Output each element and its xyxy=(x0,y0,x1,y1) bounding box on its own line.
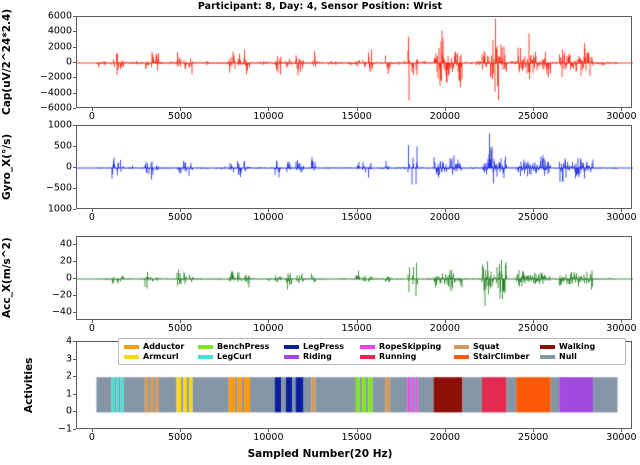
x-tick-capacitance: 10000 xyxy=(253,111,283,122)
y-tick-capacitance: −6000 xyxy=(30,103,72,114)
x-tick-mark xyxy=(92,320,93,323)
legend-swatch-icon xyxy=(360,345,375,349)
legend-label: Walking xyxy=(559,342,595,351)
y-tick-capacitance: 4000 xyxy=(30,26,72,37)
legend-label: LegPress xyxy=(303,342,344,351)
x-tick-activities: 30000 xyxy=(606,432,636,443)
y-tick-mark xyxy=(73,209,76,210)
subplot-accelerometer-x xyxy=(76,236,632,320)
x-tick-accelerometer-x: 30000 xyxy=(606,323,636,334)
y-tick-gyroscope-x: 1000 xyxy=(30,120,72,131)
y-tick-activities: 3 xyxy=(30,353,72,364)
x-tick-mark xyxy=(445,429,446,432)
legend-label: RopeSkipping xyxy=(379,342,441,351)
y-tick-mark xyxy=(73,188,76,189)
x-tick-accelerometer-x: 0 xyxy=(89,323,95,334)
x-tick-capacitance: 20000 xyxy=(430,111,460,122)
plot-area-gyroscope-x xyxy=(77,126,633,210)
subplot-gyroscope-x xyxy=(76,125,632,209)
legend-item-squat[interactable]: Squat xyxy=(454,342,540,351)
y-tick-capacitance: 0 xyxy=(30,57,72,68)
y-tick-mark xyxy=(73,47,76,48)
x-tick-gyroscope-x: 20000 xyxy=(430,212,460,223)
y-tick-activities: 2 xyxy=(30,371,72,382)
x-tick-mark xyxy=(268,320,269,323)
legend-item-running[interactable]: Running xyxy=(360,352,454,361)
x-tick-capacitance: 5000 xyxy=(168,111,192,122)
x-tick-mark xyxy=(180,320,181,323)
x-tick-activities: 5000 xyxy=(168,432,192,443)
y-tick-accelerometer-x: 0 xyxy=(30,273,72,284)
y-tick-mark xyxy=(73,261,76,262)
legend-swatch-icon xyxy=(284,355,299,359)
legend-label: Squat xyxy=(473,342,499,351)
x-tick-capacitance: 15000 xyxy=(342,111,372,122)
activity-legend: AdductorBenchPressLegPressRopeSkippingSq… xyxy=(118,338,626,365)
y-tick-accelerometer-x: −40 xyxy=(30,306,72,317)
x-tick-capacitance: 30000 xyxy=(606,111,636,122)
y-tick-gyroscope-x: 0 xyxy=(30,162,72,173)
x-tick-activities: 15000 xyxy=(342,432,372,443)
x-axis-label: Sampled Number(20 Hz) xyxy=(0,448,640,460)
legend-swatch-icon xyxy=(198,355,213,359)
legend-label: Adductor xyxy=(143,342,184,351)
x-tick-gyroscope-x: 10000 xyxy=(253,212,283,223)
y-tick-activities: 4 xyxy=(30,336,72,347)
x-tick-mark xyxy=(268,209,269,212)
y-tick-accelerometer-x: −20 xyxy=(30,289,72,300)
x-tick-mark xyxy=(621,209,622,212)
x-tick-activities: 20000 xyxy=(430,432,460,443)
x-tick-mark xyxy=(357,320,358,323)
x-tick-capacitance: 25000 xyxy=(518,111,548,122)
y-tick-activities: −1 xyxy=(30,424,72,435)
x-tick-accelerometer-x: 15000 xyxy=(342,323,372,334)
y-tick-mark xyxy=(73,167,76,168)
legend-swatch-icon xyxy=(540,355,555,359)
y-tick-mark xyxy=(73,93,76,94)
y-tick-capacitance: 2000 xyxy=(30,41,72,52)
y-tick-mark xyxy=(73,31,76,32)
figure-title: Participant: 8, Day: 4, Sensor Position:… xyxy=(0,1,640,12)
plot-area-capacitance xyxy=(77,17,633,109)
x-tick-mark xyxy=(357,209,358,212)
y-tick-capacitance: −2000 xyxy=(30,72,72,83)
figure-canvas: Participant: 8, Day: 4, Sensor Position:… xyxy=(0,0,640,465)
legend-swatch-icon xyxy=(454,345,469,349)
x-tick-gyroscope-x: 5000 xyxy=(168,212,192,223)
y-tick-mark xyxy=(73,125,76,126)
y-axis-label-gyroscope-x: Gyro_X(°/s) xyxy=(0,125,14,209)
legend-swatch-icon xyxy=(124,345,139,349)
y-tick-mark xyxy=(73,341,76,342)
y-tick-gyroscope-x: 1000 xyxy=(30,204,72,215)
legend-label: Armcurl xyxy=(143,352,179,361)
legend-item-riding[interactable]: Riding xyxy=(284,352,360,361)
x-tick-activities: 10000 xyxy=(253,432,283,443)
x-tick-gyroscope-x: 25000 xyxy=(518,212,548,223)
legend-item-null[interactable]: Null xyxy=(540,352,612,361)
x-tick-mark xyxy=(621,429,622,432)
x-tick-mark xyxy=(180,209,181,212)
y-axis-label-accelerometer-x: Acc_X(m/s^2) xyxy=(0,236,14,320)
x-tick-mark xyxy=(180,429,181,432)
y-tick-mark xyxy=(73,16,76,17)
x-tick-mark xyxy=(533,320,534,323)
legend-row: ArmcurlLegCurlRidingRunningStairClimberN… xyxy=(124,352,620,361)
y-tick-mark xyxy=(73,411,76,412)
x-tick-gyroscope-x: 0 xyxy=(89,212,95,223)
y-tick-gyroscope-x: 500 xyxy=(30,141,72,152)
x-tick-mark xyxy=(180,108,181,111)
x-tick-accelerometer-x: 25000 xyxy=(518,323,548,334)
legend-swatch-icon xyxy=(360,355,375,359)
legend-swatch-icon xyxy=(284,345,299,349)
y-tick-activities: 1 xyxy=(30,388,72,399)
legend-item-walking[interactable]: Walking xyxy=(540,342,612,351)
legend-item-stairclimber[interactable]: StairClimber xyxy=(454,352,540,361)
legend-swatch-icon xyxy=(540,345,555,349)
legend-item-benchpress[interactable]: BenchPress xyxy=(198,342,284,351)
x-tick-accelerometer-x: 10000 xyxy=(253,323,283,334)
legend-item-legcurl[interactable]: LegCurl xyxy=(198,352,284,361)
x-tick-gyroscope-x: 30000 xyxy=(606,212,636,223)
x-tick-accelerometer-x: 5000 xyxy=(168,323,192,334)
legend-label: LegCurl xyxy=(217,352,252,361)
x-tick-capacitance: 0 xyxy=(89,111,95,122)
y-tick-mark xyxy=(73,146,76,147)
x-tick-mark xyxy=(533,108,534,111)
legend-item-adductor[interactable]: Adductor xyxy=(124,342,198,351)
x-tick-gyroscope-x: 15000 xyxy=(342,212,372,223)
x-tick-mark xyxy=(357,429,358,432)
y-tick-mark xyxy=(73,376,76,377)
y-tick-mark xyxy=(73,295,76,296)
legend-item-ropeskipping[interactable]: RopeSkipping xyxy=(360,342,454,351)
y-tick-capacitance: 6000 xyxy=(30,11,72,22)
legend-label: Riding xyxy=(303,352,332,361)
legend-swatch-icon xyxy=(454,355,469,359)
y-tick-capacitance: −4000 xyxy=(30,87,72,98)
x-tick-mark xyxy=(533,209,534,212)
y-tick-mark xyxy=(73,394,76,395)
x-tick-mark xyxy=(621,108,622,111)
legend-label: BenchPress xyxy=(217,342,269,351)
x-tick-mark xyxy=(445,320,446,323)
plot-area-accelerometer-x xyxy=(77,237,633,321)
y-tick-accelerometer-x: 20 xyxy=(30,256,72,267)
legend-label: Null xyxy=(559,352,577,361)
y-tick-mark xyxy=(73,108,76,109)
legend-label: Running xyxy=(379,352,416,361)
x-tick-mark xyxy=(268,429,269,432)
y-tick-mark xyxy=(73,77,76,78)
y-tick-mark xyxy=(73,244,76,245)
y-axis-label-capacitance: Cap(uV/2^24*2.4) xyxy=(0,16,14,108)
x-tick-mark xyxy=(445,209,446,212)
x-tick-mark xyxy=(92,429,93,432)
x-tick-mark xyxy=(445,108,446,111)
y-tick-gyroscope-x: −500 xyxy=(30,183,72,194)
legend-swatch-icon xyxy=(124,355,139,359)
x-tick-mark xyxy=(533,429,534,432)
x-tick-accelerometer-x: 20000 xyxy=(430,323,460,334)
legend-swatch-icon xyxy=(198,345,213,349)
x-tick-activities: 25000 xyxy=(518,432,548,443)
y-tick-mark xyxy=(73,278,76,279)
legend-item-legpress[interactable]: LegPress xyxy=(284,342,360,351)
legend-item-armcurl[interactable]: Armcurl xyxy=(124,352,198,361)
x-tick-activities: 0 xyxy=(89,432,95,443)
y-tick-mark xyxy=(73,429,76,430)
y-tick-mark xyxy=(73,312,76,313)
x-tick-mark xyxy=(268,108,269,111)
y-tick-accelerometer-x: 40 xyxy=(30,239,72,250)
subplot-capacitance xyxy=(76,16,632,108)
y-tick-activities: 0 xyxy=(30,406,72,417)
x-tick-mark xyxy=(92,108,93,111)
legend-row: AdductorBenchPressLegPressRopeSkippingSq… xyxy=(124,342,620,351)
x-tick-mark xyxy=(357,108,358,111)
y-tick-mark xyxy=(73,62,76,63)
legend-label: StairClimber xyxy=(473,352,529,361)
x-tick-mark xyxy=(92,209,93,212)
y-tick-mark xyxy=(73,359,76,360)
x-tick-mark xyxy=(621,320,622,323)
